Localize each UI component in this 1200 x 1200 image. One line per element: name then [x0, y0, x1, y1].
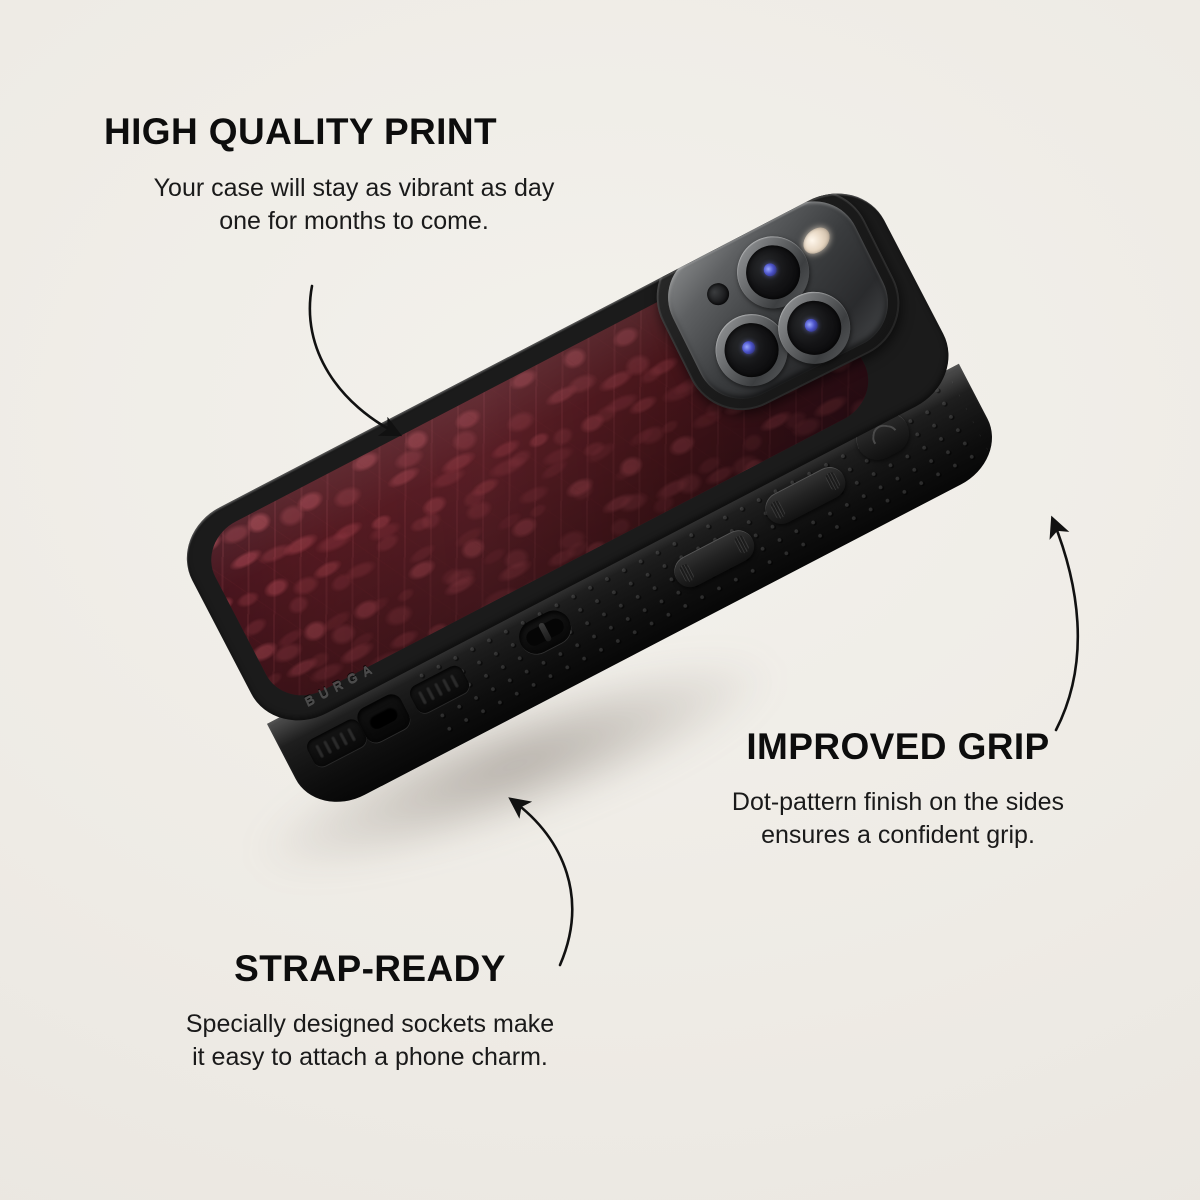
product-feature-canvas: BURGA HIGH QUALITY PRINT Your case will …	[0, 0, 1200, 1200]
callout-heading: IMPROVED GRIP	[688, 728, 1108, 767]
callout-heading: STRAP-READY	[110, 950, 630, 989]
callout-body-line-1: Your case will stay as vibrant as day	[104, 172, 604, 205]
callout-body-line-1: Dot-pattern finish on the sides	[688, 786, 1108, 819]
callout-body: Your case will stay as vibrant as day on…	[104, 172, 604, 238]
callout-body-line-2: ensures a confident grip.	[688, 819, 1108, 852]
lidar-sensor	[703, 279, 733, 309]
callout-body: Dot-pattern finish on the sides ensures …	[688, 786, 1108, 852]
callout-improved-grip: IMPROVED GRIP Dot-pattern finish on the …	[688, 728, 1108, 852]
callout-body-line-2: it easy to attach a phone charm.	[110, 1041, 630, 1074]
callout-body-line-1: Specially designed sockets make	[110, 1008, 630, 1041]
callout-high-quality-print: HIGH QUALITY PRINT Your case will stay a…	[104, 113, 604, 238]
callout-heading: HIGH QUALITY PRINT	[104, 113, 604, 152]
callout-body-line-2: one for months to come.	[104, 205, 604, 238]
callout-body: Specially designed sockets make it easy …	[110, 1008, 630, 1074]
callout-strap-ready: STRAP-READY Specially designed sockets m…	[110, 950, 630, 1074]
